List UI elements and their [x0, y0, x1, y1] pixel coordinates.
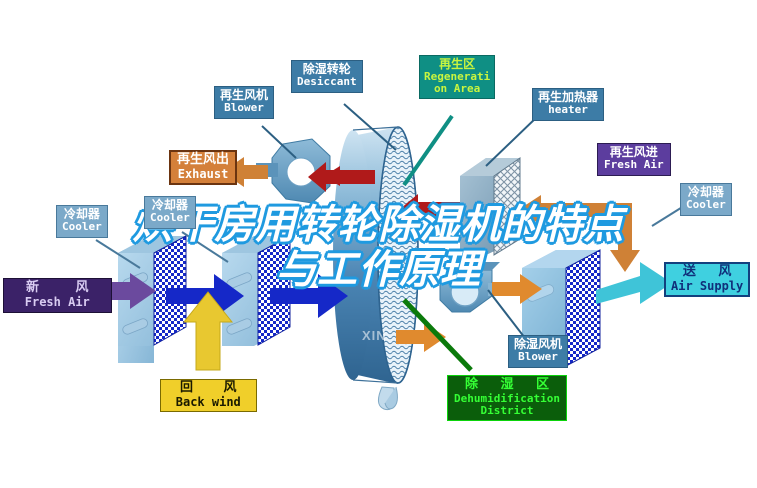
label-exhaust: 再生风出 Exhaust	[169, 150, 237, 185]
label-back-wind-en: Back wind	[167, 396, 250, 409]
label-regeneration-area-en2: on Area	[424, 83, 490, 95]
label-back-wind-cn: 回 风	[167, 381, 250, 396]
label-regen-heater-en: heater	[538, 104, 598, 116]
label-regen-blower-cn: 再生风机	[220, 89, 268, 102]
label-fresh-air: 新 风 Fresh Air	[3, 278, 112, 313]
label-back-wind: 回 风 Back wind	[160, 379, 257, 412]
label-exhaust-cn: 再生风出	[177, 153, 229, 168]
label-dehum-district: 除 湿 区 Dehumidification District	[447, 375, 567, 421]
label-desiccant-rotor-en: Desiccant	[297, 76, 357, 88]
label-dehum-blower: 除湿风机 Blower	[508, 335, 568, 368]
label-regen-heater-cn: 再生加热器	[538, 91, 598, 104]
label-regen-fresh-air-cn: 再生风进	[604, 146, 664, 159]
label-dehum-blower-cn: 除湿风机	[514, 338, 562, 351]
page-title-line2: 与工作原理	[0, 248, 757, 293]
label-dehum-district-cn: 除 湿 区	[454, 378, 560, 393]
label-cooler-right: 冷却器 Cooler	[680, 183, 732, 216]
label-dehum-district-en2: District	[454, 405, 560, 417]
label-regeneration-area-cn: 再生区	[424, 58, 490, 71]
label-fresh-air-cn: 新 风	[10, 281, 105, 296]
label-exhaust-en: Exhaust	[177, 168, 229, 181]
label-regen-blower: 再生风机 Blower	[214, 86, 274, 119]
label-cooler-middle: 冷却器 Cooler	[144, 196, 196, 229]
label-cooler-left: 冷却器 Cooler	[56, 205, 108, 238]
label-regen-blower-en: Blower	[220, 102, 268, 114]
page-title-line1: 烘干房用转轮除湿机的特点	[0, 203, 757, 248]
label-air-supply-cn: 送 风	[671, 265, 743, 280]
label-air-supply-en: Air Supply	[671, 280, 743, 293]
label-fresh-air-en: Fresh Air	[10, 296, 105, 309]
label-regeneration-area: 再生区 Regenerati on Area	[419, 55, 495, 99]
label-cooler-middle-en: Cooler	[150, 212, 190, 224]
label-cooler-right-en: Cooler	[686, 199, 726, 211]
label-regen-fresh-air: 再生风进 Fresh Air	[597, 143, 671, 176]
label-air-supply: 送 风 Air Supply	[664, 262, 750, 297]
label-regen-fresh-air-en: Fresh Air	[604, 159, 664, 171]
label-cooler-right-cn: 冷却器	[686, 186, 726, 199]
dehumidifier-diagram: 烘干房用转轮除湿机的特点 与工作原理 XIN 再生风机 Blower 除湿转轮 …	[0, 0, 757, 488]
label-desiccant-rotor: 除湿转轮 Desiccant	[291, 60, 363, 93]
label-dehum-blower-en: Blower	[514, 351, 562, 363]
label-regen-heater: 再生加热器 heater	[532, 88, 604, 121]
label-cooler-middle-cn: 冷却器	[150, 199, 190, 212]
label-desiccant-rotor-cn: 除湿转轮	[297, 63, 357, 76]
label-cooler-left-cn: 冷却器	[62, 208, 102, 221]
label-cooler-left-en: Cooler	[62, 221, 102, 233]
label-dehum-district-en1: Dehumidification	[454, 393, 560, 405]
page-title: 烘干房用转轮除湿机的特点 与工作原理	[0, 203, 757, 293]
